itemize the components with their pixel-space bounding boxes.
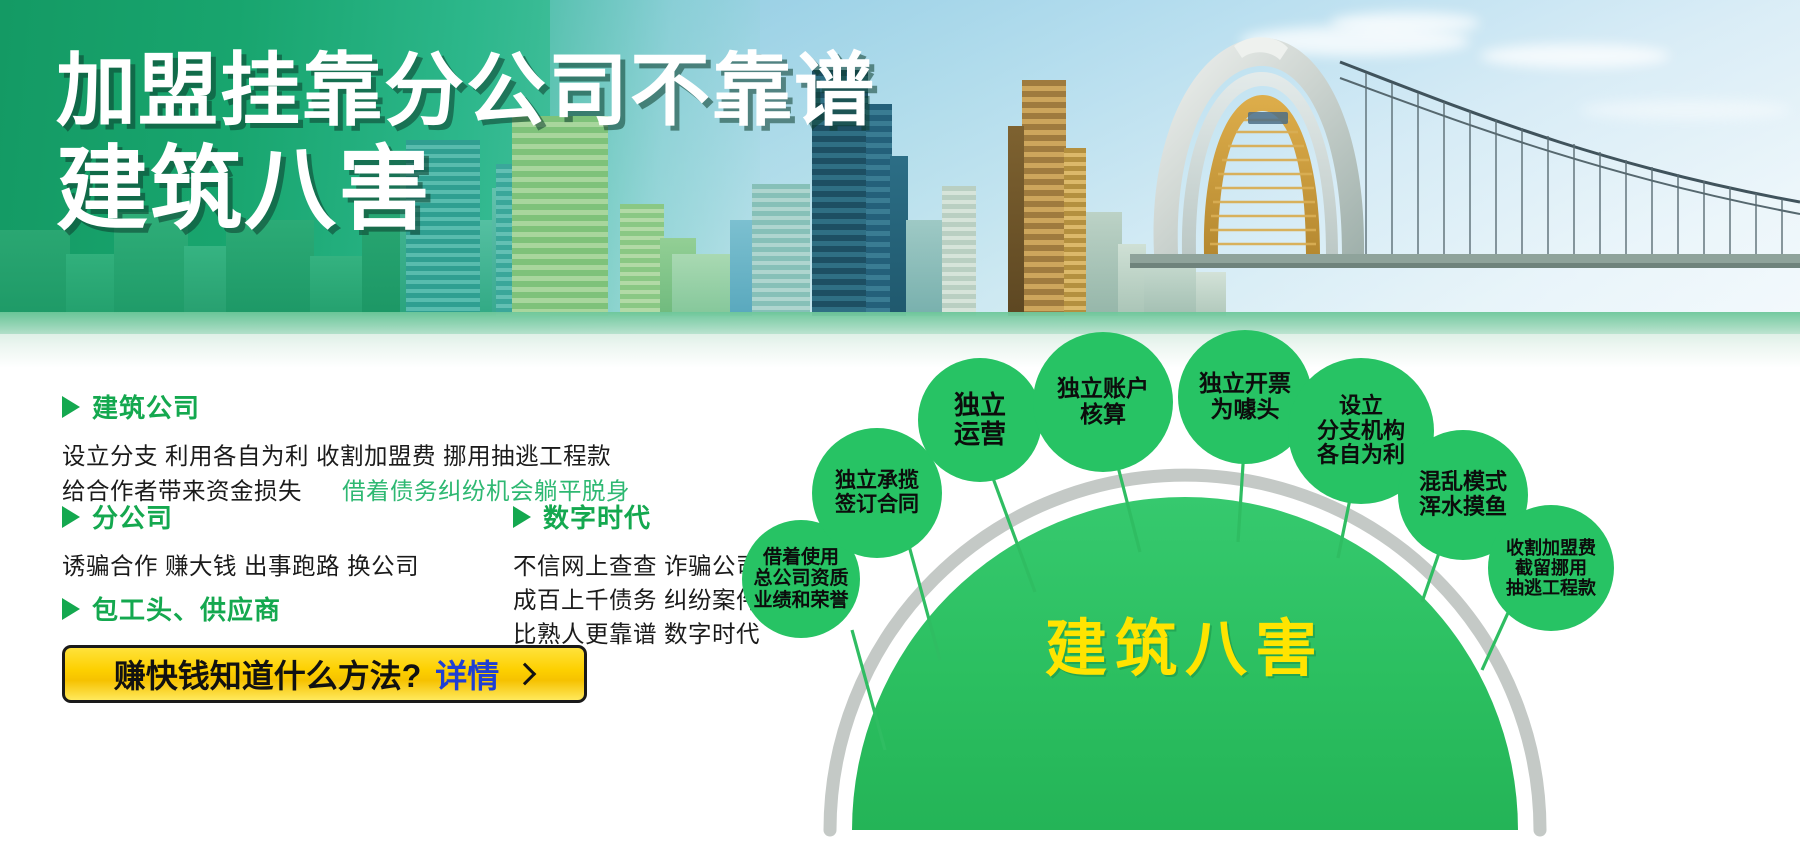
section-heading: 建筑公司 [62,388,630,425]
left-content-panel: 建筑公司 设立分支 利用各自为利 收割加盟费 挪用抽逃工程款 给合作者带来资金损… [0,368,790,844]
section-line: 不信网上查查 诈骗公司 [513,551,760,582]
section-line-text: 不信网上查查 诈骗公司 [513,553,760,579]
bubble-independent-account[interactable]: 独立账户 核算 [1033,332,1173,472]
bubble-line: 截留挪用 [1515,558,1587,578]
section-title: 分公司 [92,498,173,535]
bubble-harvest-franchise-fee[interactable]: 收割加盟费 截留挪用 抽逃工程款 [1488,505,1614,631]
section-line: 诱骗合作 赚大钱 出事跑路 换公司 [62,551,419,582]
bubble-line: 总公司资质 [753,568,848,589]
bubble-line: 抽逃工程款 [1506,578,1596,598]
bubble-line: 独立 [954,391,1006,420]
cta-main-label: 赚快钱知道什么方法? [114,651,422,697]
dome-title: 建筑八害 [945,598,1425,688]
bubble-line: 核算 [1080,402,1126,428]
bubble-independent-contracting[interactable]: 独立承揽 签订合同 [812,428,942,558]
section-title: 数字时代 [543,498,651,535]
section-digital-era: 数字时代 不信网上查查 诈骗公司 成百上千债务 纠纷案件 比熟人更靠谱 数字时代 [513,498,760,650]
hero-title-block: 加盟挂靠分公司不靠谱 建筑八害 [56,50,876,237]
hero-banner: 加盟挂靠分公司不靠谱 建筑八害 [0,0,1800,368]
bubble-line: 独立开票 [1199,371,1291,397]
bubble-line: 各自为利 [1317,443,1405,468]
bubble-line: 浑水摸鱼 [1419,495,1507,520]
section-line-text: 成百上千债务 纠纷案件 [513,587,760,613]
page-title-line2: 建筑八害 [56,144,876,238]
section-line-text: 诱骗合作 赚大钱 出事跑路 换公司 [62,553,419,579]
eight-harms-diagram: 建筑八害 借着使用 总公司资质 业绩和荣誉 独立承揽 签订合同 独立 运营 独立… [790,330,1800,844]
triangle-bullet-icon [513,506,531,528]
cta-link-label[interactable]: 详情 [435,651,499,697]
bubble-line: 收割加盟费 [1506,538,1596,558]
triangle-bullet-icon [62,506,80,528]
bridge-illustration [1130,16,1800,316]
bubble-line: 分支机构 [1317,419,1405,444]
bubble-line: 混乱模式 [1419,470,1507,495]
bubble-line: 业绩和荣誉 [753,590,848,611]
poster-canvas: 加盟挂靠分公司不靠谱 建筑八害 建筑公司 设立分支 利用各自为利 收割加盟费 挪… [0,0,1800,844]
triangle-bullet-icon [62,598,80,620]
bubble-line: 借着使用 [763,547,839,568]
bubble-line: 为噱头 [1211,397,1280,423]
bubble-line: 独立账户 [1057,376,1149,402]
chevron-right-icon [514,663,537,686]
section-line: 设立分支 利用各自为利 收割加盟费 挪用抽逃工程款 [62,441,630,472]
bubble-line: 独立承揽 [835,469,919,493]
section-title: 包工头、供应商 [92,590,281,627]
section-heading: 分公司 [62,498,419,535]
section-construction-company: 建筑公司 设立分支 利用各自为利 收割加盟费 挪用抽逃工程款 给合作者带来资金损… [62,388,630,507]
bubble-line: 设立 [1339,394,1383,419]
section-line-text: 比熟人更靠谱 数字时代 [513,621,760,647]
section-branch-company: 分公司 诱骗合作 赚大钱 出事跑路 换公司 [62,498,419,582]
section-heading: 数字时代 [513,498,760,535]
bubble-line: 运营 [954,420,1006,449]
bubble-independent-operation[interactable]: 独立 运营 [918,358,1042,482]
triangle-bullet-icon [62,396,80,418]
section-title: 建筑公司 [92,388,200,425]
section-line-text: 设立分支 利用各自为利 收割加盟费 挪用抽逃工程款 [62,443,611,469]
section-heading: 包工头、供应商 [62,590,436,627]
page-title-line1: 加盟挂靠分公司不靠谱 [56,50,876,132]
details-cta-button[interactable]: 赚快钱知道什么方法? 详情 [62,645,587,703]
section-line: 成百上千债务 纠纷案件 [513,585,760,616]
bubble-line: 签订合同 [835,493,919,517]
